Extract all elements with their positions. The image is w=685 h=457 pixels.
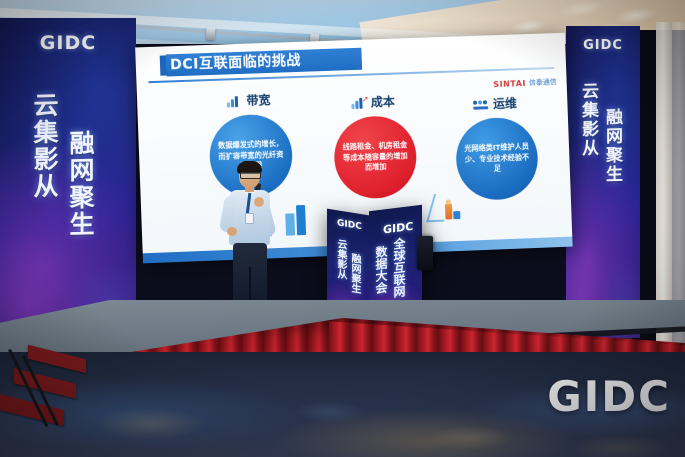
person-body (445, 203, 453, 219)
banner-right: GIDC 云集影从 融网聚生 (566, 26, 640, 338)
vendor-logo: SINTAI 信泰通信 (493, 77, 557, 89)
vendor-logo-text: 信泰通信 (529, 77, 557, 88)
banner-left-text-a: 云集影从 (26, 92, 62, 201)
bar-chart-icon (227, 94, 242, 107)
operations-icon (473, 98, 488, 110)
speaker-leg-split (249, 267, 251, 305)
vendor-logo-mark: SINTAI (493, 78, 526, 88)
column-heading-cost: ➚ 成本 (314, 91, 432, 112)
banner-left-text-b: 融网聚生 (62, 130, 98, 239)
step (14, 368, 76, 398)
speaker (221, 163, 277, 321)
stage-steps (0, 352, 118, 447)
gidc-watermark: GIDC (547, 372, 671, 421)
podium-logo-left: GIDC (337, 218, 362, 232)
challenge-column-operations: 运维 光网络类IT维护人员少、专业技术经验不足 (436, 93, 557, 202)
column-heading-label: 带宽 (246, 91, 271, 109)
speaker-hand-right (254, 197, 264, 207)
challenge-bubble-operations: 光网络类IT维护人员少、专业技术经验不足 (455, 116, 539, 201)
badge (245, 213, 254, 224)
track-light (206, 27, 216, 41)
banner-right-text-b: 融网聚生 (600, 108, 625, 185)
column-heading-operations: 运维 (436, 93, 554, 114)
podium-conference-line1: 数据大会 (373, 245, 390, 295)
banner-left-logo: GIDC (0, 32, 136, 54)
person-illustration (429, 189, 464, 226)
glasses-icon (240, 172, 261, 179)
person-briefcase (453, 211, 460, 219)
conference-stage-photo: GIDC 云集影从 融网聚生 GIDC 云集影从 融网聚生 DCI互联面临的挑战… (0, 0, 685, 457)
challenge-column-cost: ➚ 成本 线路租金、机房租金等成本随容量的增加而增加 (314, 91, 436, 200)
podium-monitor (417, 236, 433, 270)
banner-right-logo: GIDC (566, 38, 640, 53)
trend-up-icon: ➚ (352, 96, 366, 108)
podium-slogan-b: 融网聚生 (347, 252, 362, 294)
podium-conference-line2: 全球互联网 (391, 236, 408, 298)
banner-left: GIDC 云集影从 融网聚生 (0, 18, 136, 348)
podium-logo-right: GIDC (383, 220, 413, 237)
column-heading-label: 成本 (371, 93, 396, 111)
speaker-hand-left (227, 227, 237, 236)
column-heading-label: 运维 (493, 94, 517, 112)
column-heading-bandwidth: 带宽 (189, 90, 308, 111)
challenge-bubble-cost: 线路租金、机房租金等成本随容量的增加而增加 (333, 115, 418, 200)
banner-right-text-a: 云集影从 (576, 82, 601, 159)
podium-slogan-a: 云集影从 (333, 238, 348, 280)
